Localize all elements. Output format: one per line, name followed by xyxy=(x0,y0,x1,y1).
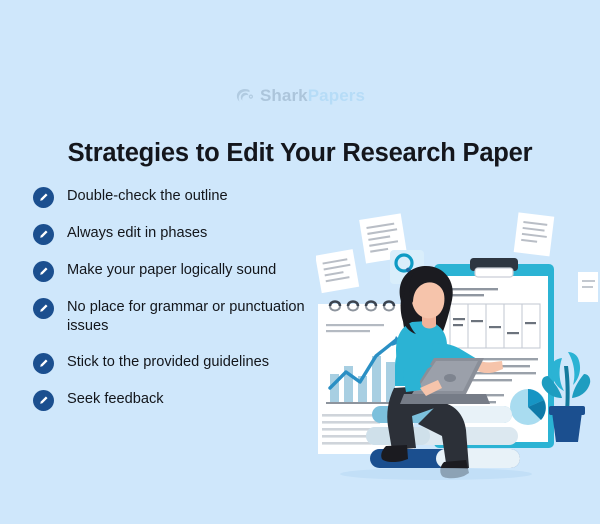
floating-document-card-edge xyxy=(578,272,598,302)
list-item: Make your paper logically sound xyxy=(33,260,323,282)
list-item: Stick to the provided guidelines xyxy=(33,352,323,374)
list-item-label: Double-check the outline xyxy=(67,186,228,206)
list-item-label: Make your paper logically sound xyxy=(67,260,276,280)
infographic-poster: SharkPapers Strategies to Edit Your Rese… xyxy=(0,0,600,524)
list-item-label: Seek feedback xyxy=(67,389,164,409)
clipboard-pie-chart xyxy=(510,389,546,425)
watermark: SharkPapers xyxy=(0,86,600,106)
pencil-edit-icon xyxy=(33,224,54,245)
list-item-label: No place for grammar or punctuation issu… xyxy=(67,297,323,337)
list-item: Double-check the outline xyxy=(33,186,323,208)
pencil-edit-icon xyxy=(33,261,54,282)
woman-editing-research-paper-illustration xyxy=(316,206,600,524)
page-title: Strategies to Edit Your Research Paper xyxy=(0,139,600,167)
floating-document-card-left xyxy=(316,249,359,293)
pencil-edit-icon xyxy=(33,390,54,411)
watermark-brand: SharkPapers xyxy=(260,86,365,106)
shark-swirl-logo-icon xyxy=(235,88,254,105)
watermark-brand-second: Papers xyxy=(308,86,365,105)
floating-document-card-right xyxy=(514,212,555,256)
list-item: No place for grammar or punctuation issu… xyxy=(33,297,323,337)
list-item-label: Always edit in phases xyxy=(67,223,207,243)
watermark-brand-first: Shark xyxy=(260,86,308,105)
pencil-edit-icon xyxy=(33,187,54,208)
strategy-list: Double-check the outline Always edit in … xyxy=(33,186,323,411)
list-item: Seek feedback xyxy=(33,389,323,411)
pencil-edit-icon xyxy=(33,298,54,319)
list-item: Always edit in phases xyxy=(33,223,323,245)
pencil-edit-icon xyxy=(33,353,54,374)
list-item-label: Stick to the provided guidelines xyxy=(67,352,269,372)
